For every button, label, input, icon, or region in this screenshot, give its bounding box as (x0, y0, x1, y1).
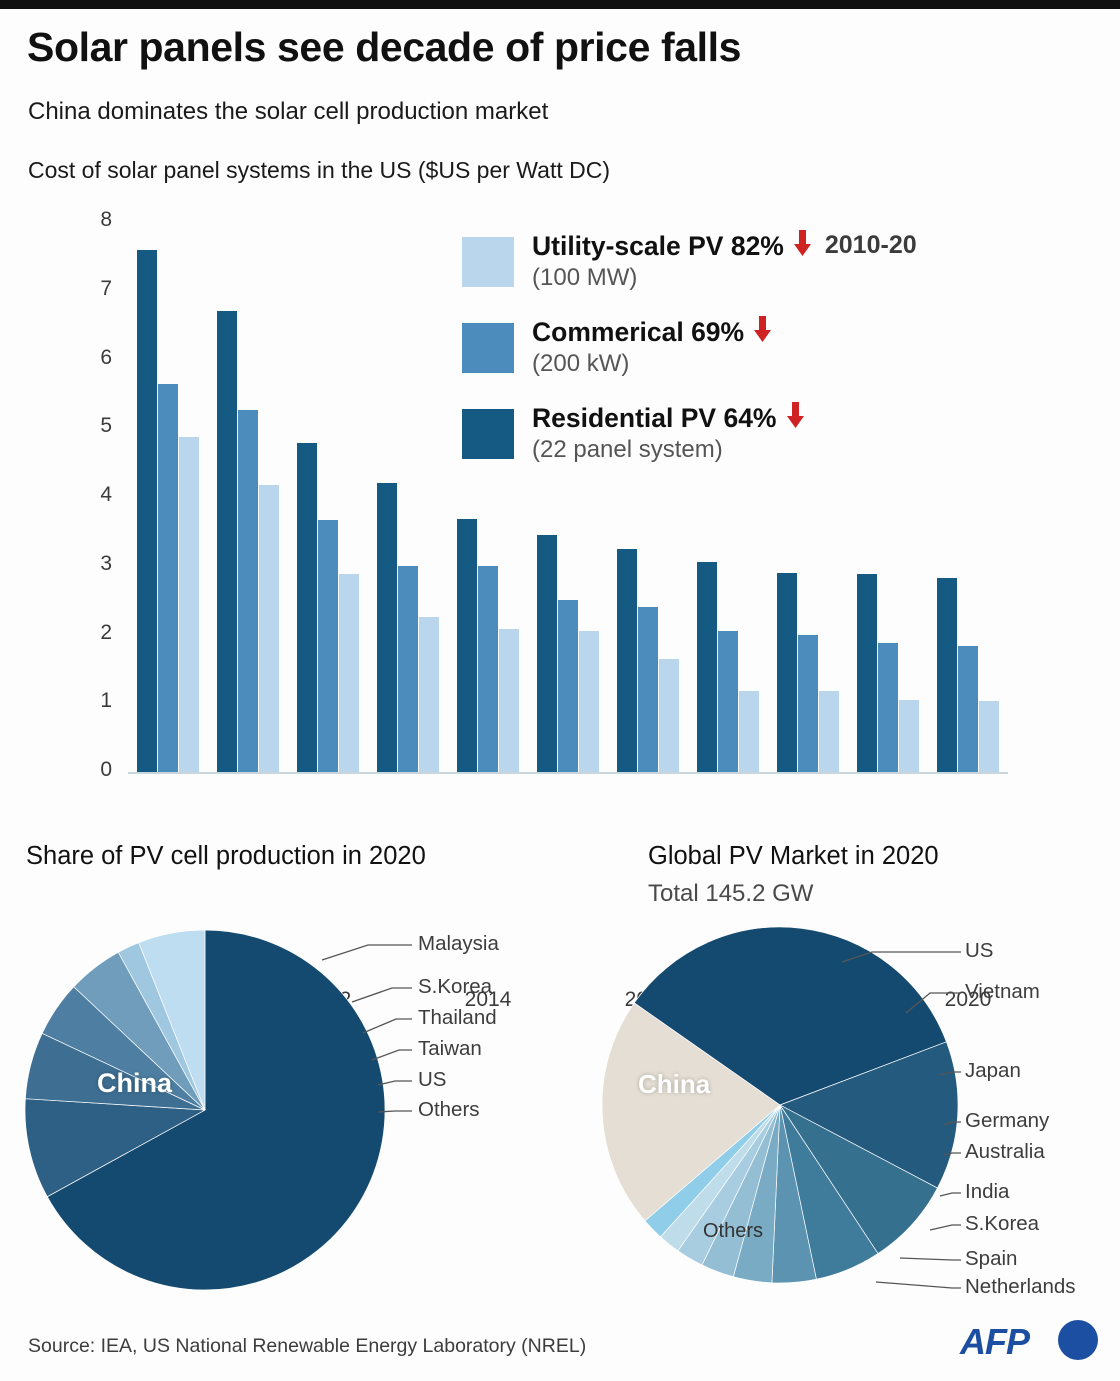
y-axis-tick: 8 (78, 208, 112, 232)
legend-label: Commerical 69% (532, 316, 1012, 348)
bar (558, 600, 578, 772)
pie-left-center-label: China (97, 1068, 172, 1099)
bar (297, 443, 317, 772)
pie-left-svg (20, 925, 390, 1295)
legend-sublabel: (100 MW) (532, 264, 1012, 292)
pie-right-svg (600, 925, 960, 1285)
y-axis-tick: 2 (78, 621, 112, 645)
bar (777, 573, 797, 772)
afp-logo-dot (1058, 1320, 1098, 1360)
pie-right-others-label: Others (703, 1220, 763, 1243)
pie-right-slice-label: US (965, 939, 993, 963)
legend-period-label: 2010-20 (825, 231, 917, 260)
page-title: Solar panels see decade of price falls (27, 24, 741, 71)
top-black-bar (0, 0, 1120, 9)
bar (377, 483, 397, 772)
bar-chart-caption: Cost of solar panel systems in the US ($… (28, 157, 610, 184)
bar (478, 566, 498, 772)
page-subtitle: China dominates the solar cell productio… (28, 98, 548, 126)
y-axis-tick: 7 (78, 277, 112, 301)
bar (238, 410, 258, 772)
bar (579, 631, 599, 772)
pie-right-slice-label: Japan (965, 1059, 1021, 1083)
legend-sublabel: (22 panel system) (532, 436, 1012, 464)
bar (419, 617, 439, 772)
legend-label: Residential PV 64% (532, 402, 1012, 434)
legend-sublabel: (200 kW) (532, 350, 1012, 378)
legend-item: Commerical 69%(200 kW) (462, 319, 1022, 397)
legend-item: Utility-scale PV 82%2010-20(100 MW) (462, 233, 1022, 311)
y-axis-tick: 6 (78, 346, 112, 370)
bar (697, 562, 717, 772)
bar (937, 578, 957, 772)
pie-right-title: Global PV Market in 2020 (648, 842, 939, 871)
bar-chart-legend: Utility-scale PV 82%2010-20(100 MW)Comme… (462, 233, 1022, 491)
bar (718, 631, 738, 772)
legend-text: Utility-scale PV 82%2010-20(100 MW) (532, 230, 1012, 292)
y-axis-tick: 1 (78, 689, 112, 713)
bar (819, 691, 839, 772)
pie-left-slice-label: Malaysia (418, 932, 499, 956)
bar (617, 549, 637, 772)
bar (179, 437, 199, 773)
bar (798, 635, 818, 773)
bar (958, 646, 978, 773)
down-arrow-icon (785, 402, 806, 429)
y-axis-tick: 4 (78, 483, 112, 507)
bar (878, 643, 898, 772)
pie-right-slice-label: Vietnam (965, 980, 1040, 1004)
pie-right-slice-label: Germany (965, 1109, 1049, 1133)
bar (979, 701, 999, 773)
bar (398, 566, 418, 772)
legend-item: Residential PV 64%(22 panel system) (462, 405, 1022, 483)
legend-color-swatch (462, 237, 514, 287)
bar (158, 384, 178, 772)
bar (457, 519, 477, 772)
bar (899, 700, 919, 772)
bar (659, 659, 679, 772)
pie-right-subtitle: Total 145.2 GW (648, 880, 813, 908)
legend-label-text: Commerical 69% (532, 317, 744, 347)
bar (537, 535, 557, 772)
pie-right-chart (600, 925, 960, 1285)
pie-left-slice-label: S.Korea (418, 975, 492, 999)
legend-label-text: Residential PV 64% (532, 403, 777, 433)
legend-color-swatch (462, 409, 514, 459)
x-axis-baseline (128, 772, 1008, 774)
bar (339, 574, 359, 772)
legend-color-swatch (462, 323, 514, 373)
y-axis-tick: 0 (78, 758, 112, 782)
pie-left-slice-label: Taiwan (418, 1037, 482, 1061)
source-note: Source: IEA, US National Renewable Energ… (28, 1335, 586, 1358)
pie-left-chart (20, 925, 390, 1295)
pie-right-slice-label: India (965, 1180, 1009, 1204)
legend-text: Commerical 69%(200 kW) (532, 316, 1012, 378)
legend-label: Utility-scale PV 82%2010-20 (532, 230, 1012, 262)
bar (318, 520, 338, 772)
pie-left-title: Share of PV cell production in 2020 (26, 842, 426, 871)
pie-right-slice-label: Netherlands (965, 1275, 1076, 1299)
infographic-root: Solar panels see decade of price falls C… (0, 0, 1120, 1381)
pie-left-slice-label: US (418, 1068, 446, 1092)
bar (499, 629, 519, 772)
bar (137, 250, 157, 773)
y-axis-tick: 3 (78, 552, 112, 576)
pie-left-slice-label: Others (418, 1098, 480, 1122)
bar (739, 691, 759, 772)
afp-logo: AFP (960, 1318, 1098, 1364)
pie-right-slice-label: S.Korea (965, 1212, 1039, 1236)
pie-left-slice-label: Thailand (418, 1006, 497, 1030)
pie-right-slice-label: Spain (965, 1247, 1017, 1271)
legend-text: Residential PV 64%(22 panel system) (532, 402, 1012, 464)
pie-right-slice-label: Australia (965, 1140, 1045, 1164)
bar (638, 607, 658, 772)
y-axis-tick: 5 (78, 414, 112, 438)
afp-logo-text: AFP (960, 1321, 1029, 1363)
bar (857, 574, 877, 772)
down-arrow-icon (752, 316, 773, 343)
down-arrow-icon (792, 230, 813, 257)
legend-label-text: Utility-scale PV 82% (532, 231, 784, 261)
pie-right-center-label: China (638, 1069, 710, 1100)
bar (217, 311, 237, 772)
bar (259, 485, 279, 772)
